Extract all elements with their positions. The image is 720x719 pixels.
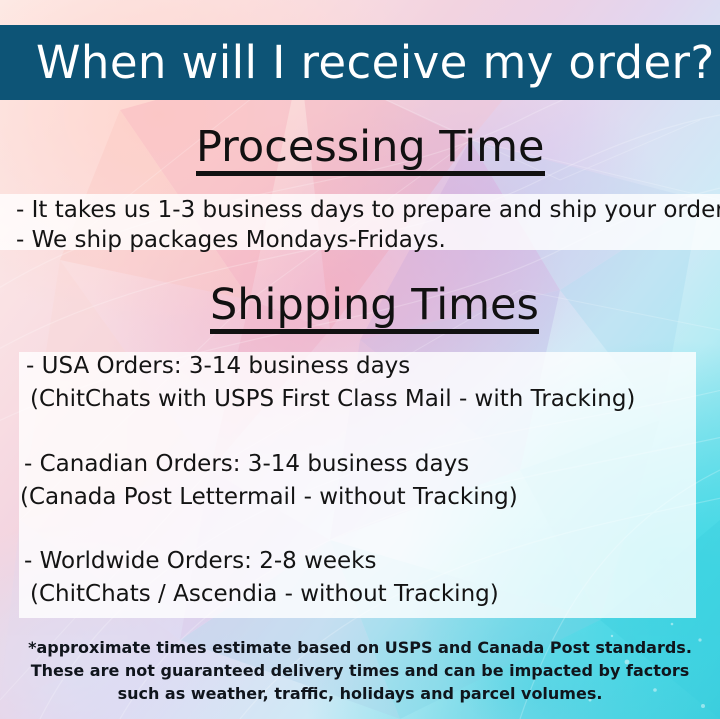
shipping-info-poster: When will I receive my order? Processing…: [0, 0, 720, 719]
shipping-entry-canada-detail: (Canada Post Lettermail - without Tracki…: [20, 486, 518, 509]
footnote: *approximate times estimate based on USP…: [0, 636, 720, 705]
footnote-line-3: such as weather, traffic, holidays and p…: [0, 682, 720, 705]
page-title: When will I receive my order?: [36, 40, 715, 85]
section-heading-shipping-times: Shipping Times: [210, 284, 539, 334]
shipping-entry-usa-detail: (ChitChats with USPS First Class Mail - …: [30, 388, 635, 411]
shipping-entry-usa-title: - USA Orders: 3-14 business days: [26, 355, 410, 378]
processing-line-ship-days: - We ship packages Mondays-Fridays.: [16, 229, 446, 252]
shipping-entry-worldwide-title: - Worldwide Orders: 2-8 weeks: [24, 550, 376, 573]
shipping-entry-worldwide-detail: (ChitChats / Ascendia - without Tracking…: [30, 583, 499, 606]
header-band: When will I receive my order?: [0, 25, 720, 100]
footnote-line-1: *approximate times estimate based on USP…: [0, 636, 720, 659]
section-heading-processing-time: Processing Time: [196, 126, 545, 176]
footnote-line-2: These are not guaranteed delivery times …: [0, 659, 720, 682]
shipping-entry-canada-title: - Canadian Orders: 3-14 business days: [24, 453, 469, 476]
processing-line-business-days: - It takes us 1-3 business days to prepa…: [16, 199, 720, 222]
